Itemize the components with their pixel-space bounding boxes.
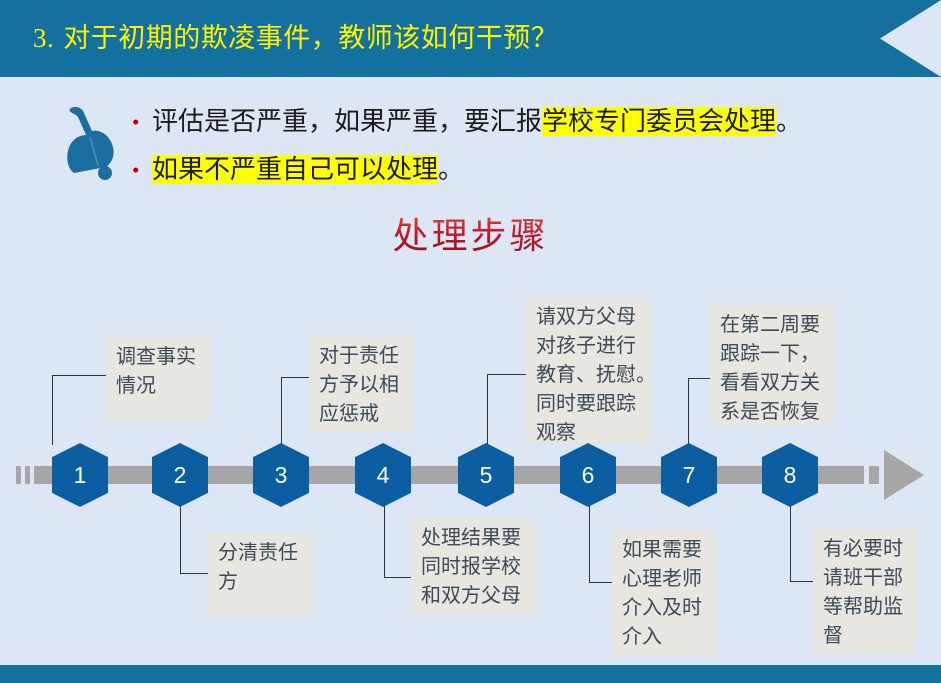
timeline-node-2-number: 2 [152,443,208,507]
timeline-node-1-number: 1 [52,443,108,507]
connector-4-horizontal [384,577,411,578]
callout-3-line-1: 对于责任 [319,342,403,371]
callout-step-4: 处理结果要 同时报学校 和双方父母 [411,518,535,614]
callout-7-line-4: 系是否恢复 [720,398,824,427]
connector-2-vertical [180,505,181,573]
bullet-2-highlight: 如果不严重自己可以处理 [152,155,438,184]
connector-7-horizontal [688,378,710,379]
callout-step-7: 在第二周要 跟踪一下， 看看双方关 系是否恢复 [710,305,834,425]
page-title-number: 3. [33,23,54,53]
connector-5-vertical [487,374,488,445]
callout-1-line-1: 调查事实 [116,343,200,372]
callout-8-line-2: 请班干部 [823,564,907,593]
callout-5-line-2: 对孩子进行 [536,332,640,361]
bullet-list: • 评估是否严重，如果严重，要汇报学校专门委员会处理。 • 如果不严重自己可以处… [128,104,918,200]
timeline-arrow-icon [884,450,924,500]
timeline-node-6[interactable]: 6 [560,443,616,507]
connector-3-horizontal [281,377,309,378]
callout-step-3: 对于责任 方予以相 应惩戒 [309,336,413,432]
callout-2-line-1: 分清责任 [218,539,302,568]
connector-8-horizontal [790,581,813,582]
callout-step-2: 分清责任 方 [208,533,312,617]
timeline-tick-left-2 [25,466,30,484]
callout-step-1: 调查事实 情况 [106,337,210,421]
connector-5-horizontal [487,374,526,375]
callout-5-line-5: 观察 [536,419,640,448]
bell-icon [62,103,124,183]
timeline-node-7-number: 7 [661,443,717,507]
page-title: 3.对于初期的欺凌事件，教师该如何干预？ [33,19,558,57]
callout-6-line-4: 介入 [622,623,706,652]
bullet-item-1: • 评估是否严重，如果严重，要汇报学校专门委员会处理。 [128,104,918,140]
connector-1-horizontal [52,375,106,376]
timeline-node-4-number: 4 [355,443,411,507]
timeline-tick-left-1 [16,466,21,484]
callout-5-line-4: 同时要跟踪 [536,390,640,419]
timeline-node-7[interactable]: 7 [661,443,717,507]
slide-canvas: 3.对于初期的欺凌事件，教师该如何干预？ • 评估是否严重，如果严重，要汇报学校… [0,0,941,683]
bullet-item-2: • 如果不严重自己可以处理。 [128,152,918,188]
callout-2-line-2: 方 [218,568,302,597]
timeline-node-2[interactable]: 2 [152,443,208,507]
timeline-node-3[interactable]: 3 [253,443,309,507]
bullet-marker: • [128,152,152,188]
callout-step-8: 有必要时 请班干部 等帮助监 督 [813,529,917,654]
bullet-1-plain-after: 。 [776,107,802,136]
timeline-tick-right-1 [846,466,864,484]
bullet-text-1: 评估是否严重，如果严重，要汇报学校专门委员会处理。 [152,104,802,140]
callout-6-line-2: 心理老师 [622,565,706,594]
timeline-node-6-number: 6 [560,443,616,507]
connector-7-vertical [688,378,689,445]
timeline-node-4[interactable]: 4 [355,443,411,507]
bullet-1-plain-before: 评估是否严重，如果严重，要汇报 [152,107,542,136]
callout-3-line-3: 应惩戒 [319,400,403,429]
timeline-node-8[interactable]: 8 [762,443,818,507]
timeline-node-1[interactable]: 1 [52,443,108,507]
connector-8-vertical [790,505,791,581]
timeline-tick-right-2 [869,466,879,484]
connector-6-horizontal [589,582,612,583]
callout-5-line-1: 请双方父母 [536,303,640,332]
callout-7-line-1: 在第二周要 [720,311,824,340]
callout-7-line-3: 看看双方关 [720,369,824,398]
connector-1-vertical [52,375,53,445]
callout-6-line-3: 介入及时 [622,594,706,623]
callout-3-line-2: 方予以相 [319,371,403,400]
bullet-marker: • [128,104,152,140]
callout-8-line-3: 等帮助监 [823,593,907,622]
connector-3-vertical [281,377,282,445]
callout-4-line-2: 同时报学校 [421,553,525,582]
callout-step-6: 如果需要 心理老师 介入及时 介入 [612,530,716,655]
timeline-node-5-number: 5 [458,443,514,507]
timeline-node-8-number: 8 [762,443,818,507]
bullet-1-highlight: 学校专门委员会处理 [542,107,776,136]
section-title: 处理步骤 [0,212,941,260]
callout-step-5: 请双方父母 对孩子进行 教育、抚慰。 同时要跟踪 观察 [526,297,650,443]
callout-6-line-1: 如果需要 [622,536,706,565]
callout-1-line-2: 情况 [116,372,200,401]
callout-8-line-4: 督 [823,622,907,651]
callout-4-line-3: 和双方父母 [421,582,525,611]
connector-2-horizontal [180,573,208,574]
callout-8-line-1: 有必要时 [823,535,907,564]
bullet-text-2: 如果不严重自己可以处理。 [152,152,464,188]
page-title-text: 对于初期的欺凌事件，教师该如何干预？ [63,23,558,53]
callout-5-line-3: 教育、抚慰。 [536,361,640,390]
connector-6-vertical [589,505,590,582]
connector-4-vertical [384,505,385,577]
footer-bar [0,665,941,683]
timeline-node-5[interactable]: 5 [458,443,514,507]
callout-4-line-1: 处理结果要 [421,524,525,553]
callout-7-line-2: 跟踪一下， [720,340,824,369]
bullet-2-plain-after: 。 [438,155,464,184]
timeline-node-3-number: 3 [253,443,309,507]
